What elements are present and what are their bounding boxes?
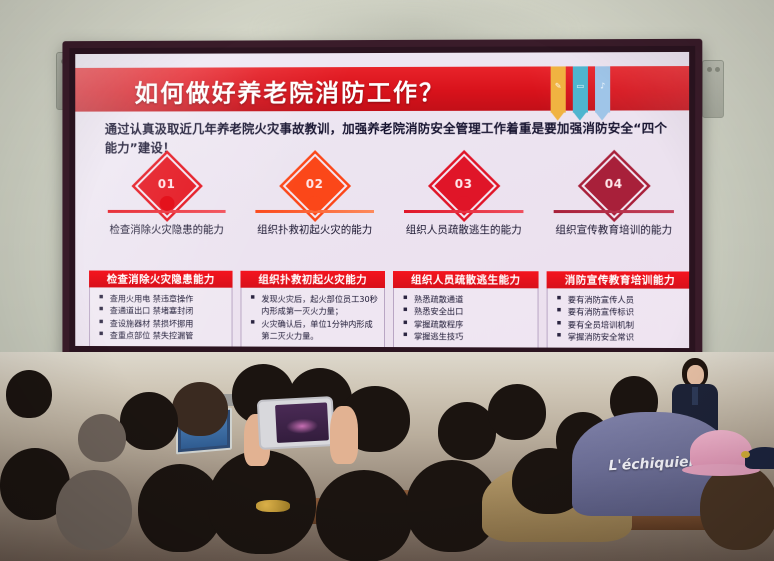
step-label: 组织扑救初起火灾的能力 bbox=[244, 223, 385, 238]
ability-box-heading: 组织扑救初起火灾能力 bbox=[240, 271, 385, 288]
list-item: 查设施器材 禁损坏挪用 bbox=[96, 317, 228, 330]
projection-screen: 如何做好养老院消防工作？ ✎ ▭ ♪ 通过认真汲取近几年养老院火灾事故教训，加强… bbox=[62, 39, 702, 361]
diamond-dot-icon bbox=[307, 196, 322, 211]
ability-box-1: 检查消除火灾隐患能力 查用火用电 禁违章操作 查通道出口 禁堵塞封闭 查设施器材… bbox=[89, 271, 232, 349]
ability-box-body: 熟悉疏散通道 熟悉安全出口 掌握疏散程序 掌握逃生技巧 bbox=[393, 287, 539, 348]
ability-detail-boxes: 检查消除火灾隐患能力 查用火用电 禁违章操作 查通道出口 禁堵塞封闭 查设施器材… bbox=[89, 271, 689, 349]
list-item: 掌握消防安全常识 bbox=[554, 330, 688, 343]
four-abilities-diamonds: 01 检查消除火灾隐患的能力 02 组织扑救初起火灾的能力 03 bbox=[93, 163, 689, 264]
list-item: 熟悉安全出口 bbox=[400, 305, 534, 318]
step-01: 01 检查消除火灾隐患的能力 bbox=[93, 163, 240, 263]
list-item: 查通道出口 禁堵塞封闭 bbox=[96, 305, 228, 318]
list-item: 掌握逃生技巧 bbox=[400, 330, 534, 343]
audience-head bbox=[56, 470, 132, 550]
hair-clip bbox=[256, 500, 290, 512]
audience-head bbox=[700, 464, 774, 550]
slide-title: 如何做好养老院消防工作？ bbox=[134, 73, 445, 109]
phone-screen bbox=[275, 402, 329, 443]
step-number: 02 bbox=[306, 177, 324, 191]
list-item: 熟悉疏散通道 bbox=[400, 293, 534, 306]
audience-head bbox=[120, 392, 178, 450]
audience-head bbox=[172, 382, 228, 436]
step-number: 03 bbox=[455, 177, 473, 191]
bookmark-blue-icon: ♪ bbox=[595, 66, 610, 112]
ability-box-2: 组织扑救初起火灾能力 发现火灾后，起火部位员工30秒内形成第一灭火力量； 火灾确… bbox=[240, 271, 385, 348]
list-item: 要有消防宣传标识 bbox=[554, 306, 688, 319]
step-number: 04 bbox=[605, 177, 623, 191]
presenter-face bbox=[687, 365, 704, 385]
ability-box-body: 发现火灾后，起火部位员工30秒内形成第一灭火力量； 火灾确认后，单位1分钟内形成… bbox=[240, 287, 385, 348]
ribbon-decorations: ✎ ▭ ♪ bbox=[551, 66, 611, 112]
ability-box-4: 消防宣传教育培训能力 要有消防宣传人员 要有消防宣传标识 要有全员培训机制 掌握… bbox=[547, 271, 690, 348]
lecture-room-photo: 如何做好养老院消防工作？ ✎ ▭ ♪ 通过认真汲取近几年养老院火灾事故教训，加强… bbox=[0, 0, 774, 561]
list-item: 要有消防宣传人员 bbox=[554, 293, 688, 306]
step-label: 组织宣传教育培训的能力 bbox=[543, 223, 686, 238]
audience-area: L'échiquier bbox=[0, 352, 774, 561]
diamond-dot-icon bbox=[606, 196, 621, 211]
audience-head bbox=[316, 470, 412, 561]
ability-box-heading: 检查消除火灾隐患能力 bbox=[89, 271, 232, 288]
ability-box-3: 组织人员疏散逃生能力 熟悉疏散通道 熟悉安全出口 掌握疏散程序 掌握逃生技巧 bbox=[393, 271, 539, 348]
ability-box-body: 查用火用电 禁违章操作 查通道出口 禁堵塞封闭 查设施器材 禁损坏挪用 查重点部… bbox=[89, 286, 232, 348]
ability-box-body: 要有消防宣传人员 要有消防宣传标识 要有全员培训机制 掌握消防安全常识 bbox=[547, 287, 690, 348]
list-item: 火灾确认后，单位1分钟内形成第二灭火力量。 bbox=[247, 317, 380, 342]
diamond-dot-icon bbox=[159, 196, 174, 211]
list-item: 查重点部位 禁失控漏管 bbox=[96, 329, 228, 342]
presenter-tie bbox=[692, 387, 698, 405]
audience-head bbox=[488, 384, 546, 440]
bookmark-teal-icon: ▭ bbox=[573, 66, 588, 112]
step-number: 01 bbox=[158, 177, 176, 191]
bookmark-orange-icon: ✎ bbox=[551, 66, 566, 112]
hand-right bbox=[330, 406, 358, 464]
list-item: 掌握疏散程序 bbox=[400, 318, 534, 331]
presentation-slide: 如何做好养老院消防工作？ ✎ ▭ ♪ 通过认真汲取近几年养老院火灾事故教训，加强… bbox=[75, 52, 689, 348]
slide-title-band: 如何做好养老院消防工作？ ✎ ▭ ♪ bbox=[75, 66, 689, 112]
list-item: 要有全员培训机制 bbox=[554, 318, 688, 331]
diamond-dot-icon bbox=[456, 196, 471, 211]
slide-intro-paragraph: 通过认真汲取近几年养老院火灾事故教训，加强养老院消防安全管理工作着重是要加强消防… bbox=[105, 118, 677, 157]
smartphone-recording bbox=[257, 396, 336, 450]
ability-box-heading: 消防宣传教育培训能力 bbox=[547, 271, 690, 288]
audience-head bbox=[78, 414, 126, 462]
step-03: 03 组织人员疏散逃生的能力 bbox=[389, 163, 539, 263]
list-item: 发现火灾后，起火部位员工30秒内形成第一灭火力量； bbox=[247, 293, 380, 318]
ability-box-heading: 组织人员疏散逃生能力 bbox=[393, 271, 539, 288]
navy-cap bbox=[745, 447, 774, 469]
wall-speaker-right bbox=[702, 60, 724, 118]
audience-head bbox=[6, 370, 52, 418]
step-label: 组织人员疏散逃生的能力 bbox=[393, 223, 535, 238]
step-04: 04 组织宣传教育培训的能力 bbox=[539, 163, 690, 264]
list-item: 查用火用电 禁违章操作 bbox=[96, 292, 228, 305]
step-02: 02 组织扑救初起火灾的能力 bbox=[240, 163, 389, 263]
step-label: 检查消除火灾隐患的能力 bbox=[97, 223, 237, 238]
